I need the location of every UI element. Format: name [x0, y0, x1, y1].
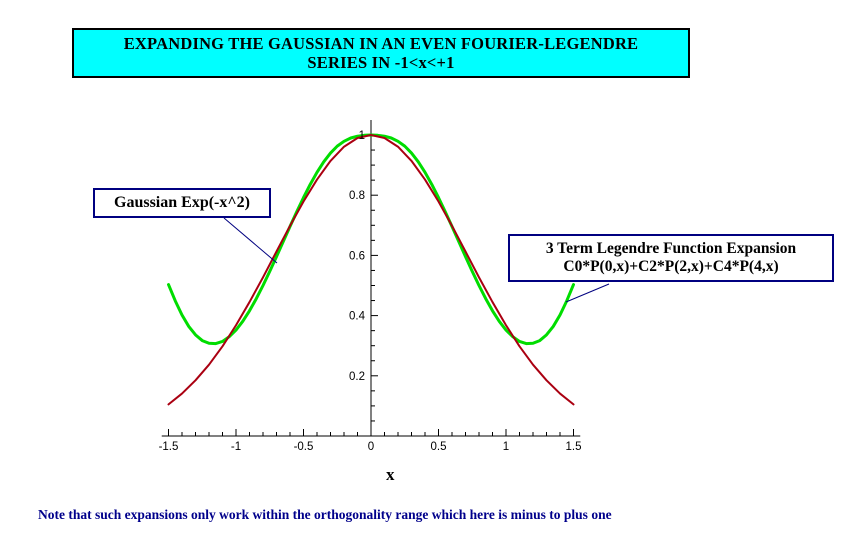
- gaussian-leader-line: [224, 218, 277, 263]
- x-axis-tick-label: -1.5: [159, 441, 179, 453]
- legendre-annotation-box: 3 Term Legendre Function Expansion C0*P(…: [508, 234, 834, 282]
- x-axis-tick-label: 1: [503, 441, 509, 453]
- x-axis-tick-label: -0.5: [294, 441, 314, 453]
- y-axis-tick-label: 0.2: [349, 371, 365, 383]
- legendre-annotation-line-2: C0*P(0,x)+C2*P(2,x)+C4*P(4,x): [563, 258, 778, 276]
- x-axis-tick-label: -1: [231, 441, 241, 453]
- gaussian-annotation-text: Gaussian Exp(-x^2): [114, 194, 250, 212]
- gaussian-annotation-box: Gaussian Exp(-x^2): [93, 188, 271, 218]
- tick-labels-group: -1.5-1-0.500.511.50.20.40.60.81: [159, 130, 582, 453]
- y-axis-tick-label: 1: [359, 130, 365, 142]
- y-axis-tick-label: 0.6: [349, 250, 365, 262]
- y-axis-tick-label: 0.8: [349, 190, 365, 202]
- x-axis-tick-label: 0: [368, 441, 374, 453]
- x-axis-label: x: [386, 465, 395, 485]
- x-axis-tick-label: 0.5: [431, 441, 447, 453]
- footnote-text: Note that such expansions only work with…: [38, 507, 612, 523]
- x-axis-tick-label: 1.5: [566, 441, 582, 453]
- y-axis-tick-label: 0.4: [349, 311, 366, 323]
- legendre-annotation-line-1: 3 Term Legendre Function Expansion: [546, 240, 796, 258]
